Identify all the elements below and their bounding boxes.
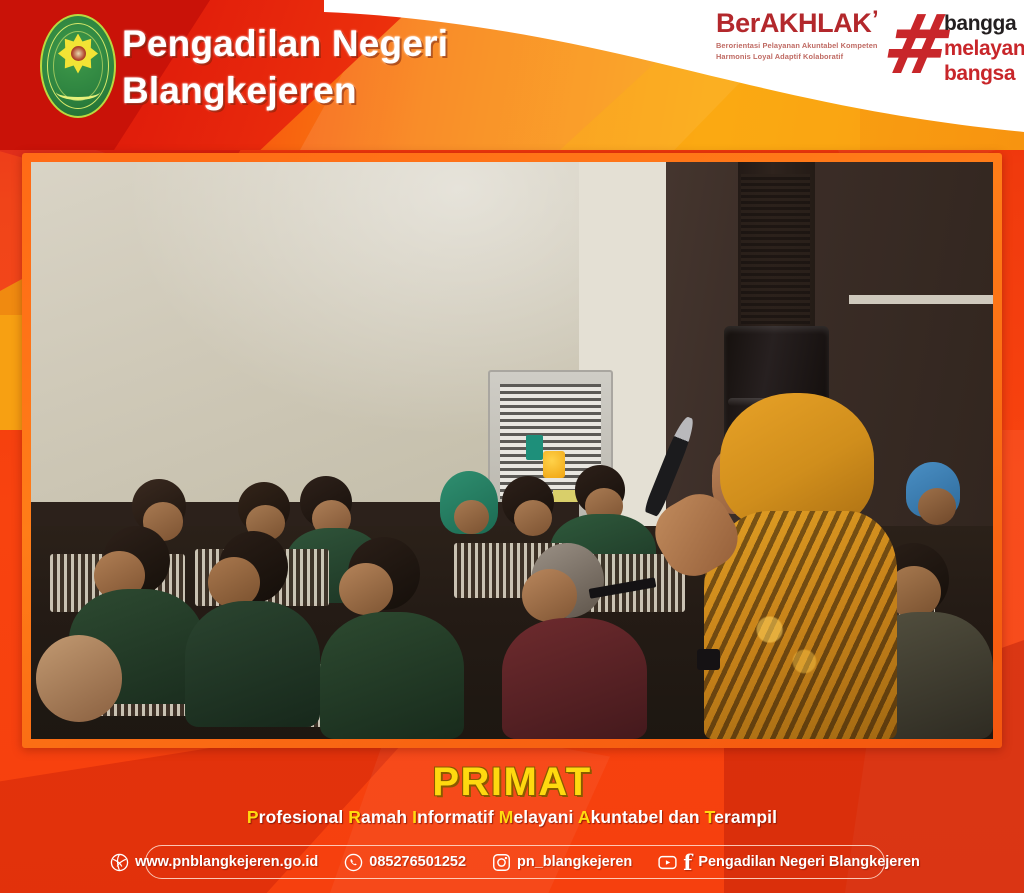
audience-member-torso — [502, 618, 646, 739]
woman-speaker-with-microphone — [704, 393, 896, 739]
primat-tagline: Profesional Ramah Informatif Melayani Ak… — [0, 807, 1024, 828]
berakhlak-tagline-line2: Harmonis Loyal Adaptif Kolaboratif — [716, 52, 894, 63]
page-title-line2: Blangkejeren — [122, 67, 602, 114]
youtube-icon — [658, 853, 677, 872]
photo-frame — [22, 153, 1002, 748]
berakhlak-slogan-line3: bangsa — [944, 61, 1024, 86]
page-title-line1: Pengadilan Negeri — [122, 20, 602, 67]
audience-member — [339, 563, 393, 615]
berakhlak-apostrophe: ’ — [872, 6, 879, 34]
globe-icon — [110, 853, 129, 872]
whatsapp-icon — [344, 853, 363, 872]
audience-member — [522, 569, 578, 622]
page-title: Pengadilan Negeri Blangkejeren — [122, 20, 602, 115]
contact-item-instagram[interactable]: pn_blangkejeren — [492, 853, 632, 872]
audience-member — [36, 635, 123, 722]
facebook-icon: f — [683, 853, 692, 872]
caption-block: PRIMAT Profesional Ramah Informatif Mela… — [0, 758, 1024, 828]
whatsapp-label: 085276501252 — [369, 854, 466, 870]
contact-item-website[interactable]: www.pnblangkejeren.go.id — [110, 853, 318, 872]
audience-member — [918, 488, 956, 525]
audience-member — [514, 500, 552, 536]
berakhlak-tagline-line1: Berorientasi Pelayanan Akuntabel Kompete… — [716, 41, 894, 52]
contact-item-whatsapp[interactable]: 085276501252 — [344, 853, 466, 872]
instagram-label: pn_blangkejeren — [517, 854, 632, 870]
berakhlak-slogan-line2: melayani — [944, 36, 1024, 61]
court-emblem-icon — [40, 14, 116, 118]
pillar-grille — [741, 174, 810, 324]
primat-acronym: PRIMAT — [0, 758, 1024, 806]
event-photo — [31, 162, 993, 739]
poster-canvas: Pengadilan Negeri Blangkejeren BerAKHLAK… — [0, 0, 1024, 893]
instagram-icon — [492, 853, 511, 872]
contact-item-social[interactable]: f Pengadilan Negeri Blangkejeren — [658, 853, 920, 872]
contact-bar: www.pnblangkejeren.go.id 085276501252 pn… — [145, 845, 885, 879]
audience-member-torso — [320, 612, 464, 739]
audience-member — [454, 500, 489, 535]
berakhlak-logo: BerAKHLAK Berorientasi Pelayanan Akuntab… — [716, 6, 1006, 102]
audience-member-torso — [185, 601, 320, 728]
website-label: www.pnblangkejeren.go.id — [135, 854, 318, 870]
berakhlak-wordmark: BerAKHLAK — [716, 10, 894, 37]
facebook-label: Pengadilan Negeri Blangkejeren — [698, 854, 920, 870]
berakhlak-slogan-line1: bangga — [944, 11, 1024, 36]
wall-trim-strip — [849, 295, 993, 304]
